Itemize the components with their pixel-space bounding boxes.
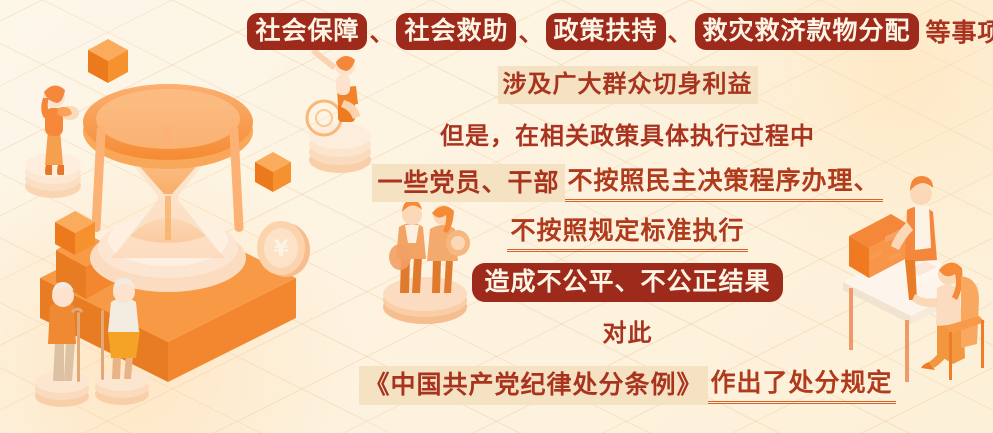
pill-social-assistance: 社会救助 bbox=[396, 13, 516, 50]
text-line-2: 涉及广大群众切身利益 bbox=[262, 62, 993, 108]
separator-1: 、 bbox=[367, 13, 396, 49]
text-line-6: 造成不公平、不公正结果 bbox=[262, 258, 993, 306]
pill-social-security: 社会保障 bbox=[247, 13, 367, 50]
underline-standard-execution: 不按照规定标准执行 bbox=[507, 214, 747, 252]
text-line-3: 但是，在相关政策具体执行过程中 bbox=[262, 108, 993, 158]
text-line-8: 《中国共产党纪律处分条例》 作出了处分规定 bbox=[262, 354, 993, 433]
text-line-5: 不按照规定标准执行 bbox=[262, 208, 993, 258]
text-line-7: 对此 bbox=[262, 306, 993, 354]
pill-disaster-relief: 救灾救济款物分配 bbox=[695, 13, 919, 50]
underline-punishment-provision: 作出了处分规定 bbox=[708, 366, 896, 404]
poster-canvas: ¥ bbox=[0, 0, 993, 433]
underline-democratic-procedure: 不按照民主决策程序办理、 bbox=[565, 164, 883, 202]
separator-3: 、 bbox=[666, 13, 695, 49]
highlight-party-members: 一些党员、干部 bbox=[372, 164, 564, 203]
highlight-regulation-title: 《中国共产党纪律处分条例》 bbox=[359, 366, 707, 405]
line7-plain-text: 对此 bbox=[603, 313, 653, 348]
line1-tail-text: 等事项 bbox=[919, 13, 993, 49]
line3-plain-text: 但是，在相关政策具体执行过程中 bbox=[440, 116, 815, 151]
text-line-1: 社会保障 、 社会救助 、 政策扶持 、 救灾救济款物分配 等事项 bbox=[262, 0, 993, 62]
text-line-4: 一些党员、干部 不按照民主决策程序办理、 bbox=[262, 158, 993, 208]
separator-2: 、 bbox=[516, 13, 545, 49]
pill-unfair-result: 造成不公平、不公正结果 bbox=[472, 263, 782, 302]
text-content-column: 社会保障 、 社会救助 、 政策扶持 、 救灾救济款物分配 等事项 涉及广大群众… bbox=[262, 0, 993, 433]
floating-cube-top bbox=[88, 39, 128, 83]
pill-policy-support: 政策扶持 bbox=[546, 13, 666, 50]
hourglass-icon bbox=[83, 84, 253, 292]
figure-young-couple bbox=[109, 273, 197, 311]
figure-mother-with-baby bbox=[25, 85, 81, 198]
highlight-public-interest: 涉及广大群众切身利益 bbox=[498, 66, 758, 103]
